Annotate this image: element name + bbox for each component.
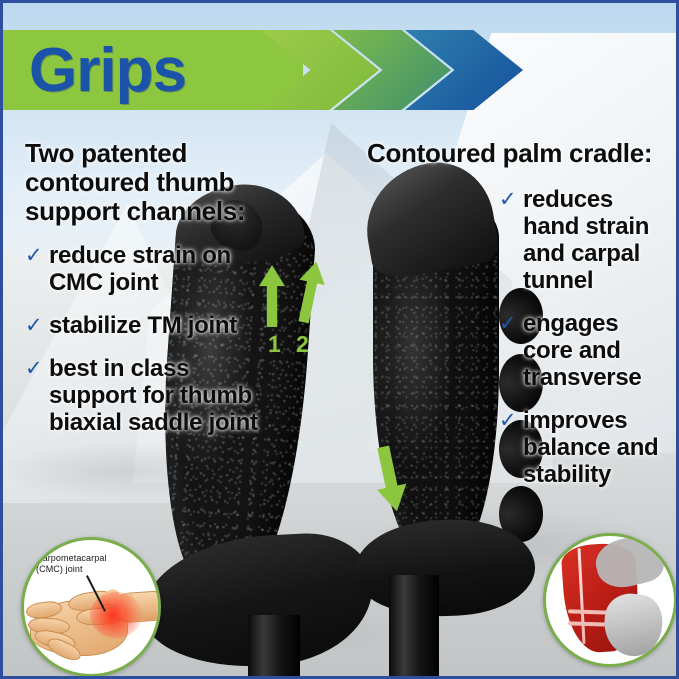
list-item-label: improves balance and stability	[523, 407, 667, 488]
grip-right-base	[353, 517, 536, 619]
list-item: ✓ best in class support for thumb biaxia…	[25, 355, 260, 436]
check-icon: ✓	[499, 313, 517, 335]
list-item-label: reduces hand strain and carpal tunnel	[523, 186, 667, 294]
infographic-canvas: Grips 1 2 Two patented contoured thumb s…	[0, 0, 679, 679]
cmc-label-line-1: Carpometacarpal	[36, 553, 107, 564]
list-item: ✓ improves balance and stability	[499, 407, 667, 488]
list-item-label: best in class support for thumb biaxial …	[49, 355, 260, 436]
cmc-inset-label: Carpometacarpal (CMC) joint	[36, 553, 107, 575]
cmc-label-line-2: (CMC) joint	[36, 564, 107, 575]
list-item: ✓ reduce strain on CMC joint	[25, 242, 260, 296]
header-banner: Grips	[3, 30, 679, 110]
channel-number-2: 2	[296, 333, 309, 356]
pole-shaft-right	[389, 575, 439, 679]
list-item-label: engages core and transverse	[523, 310, 667, 391]
core-muscle-inset	[543, 533, 677, 667]
pole-shaft-left	[248, 615, 300, 679]
check-icon: ✓	[25, 245, 43, 267]
right-feature-column: Contoured palm cradle: ✓ reduces hand st…	[367, 139, 667, 504]
right-bullet-list: ✓ reduces hand strain and carpal tunnel …	[499, 186, 667, 488]
list-item: ✓ stabilize TM joint	[25, 312, 260, 339]
check-icon: ✓	[25, 358, 43, 380]
check-icon: ✓	[25, 315, 43, 337]
check-icon: ✓	[499, 189, 517, 211]
left-feature-column: Two patented contoured thumb support cha…	[25, 139, 260, 452]
check-icon: ✓	[499, 410, 517, 432]
list-item-label: reduce strain on CMC joint	[49, 242, 260, 296]
list-item: ✓ engages core and transverse	[499, 310, 667, 391]
list-item: ✓ reduces hand strain and carpal tunnel	[499, 186, 667, 294]
page-title: Grips	[29, 35, 186, 107]
list-item-label: stabilize TM joint	[49, 312, 260, 339]
left-bullet-list: ✓ reduce strain on CMC joint ✓ stabilize…	[25, 242, 260, 436]
channel-number-1: 1	[268, 333, 281, 356]
left-column-heading: Two patented contoured thumb support cha…	[25, 139, 260, 226]
cmc-joint-inset: Carpometacarpal (CMC) joint	[21, 537, 161, 677]
right-column-heading: Contoured palm cradle:	[367, 139, 667, 168]
